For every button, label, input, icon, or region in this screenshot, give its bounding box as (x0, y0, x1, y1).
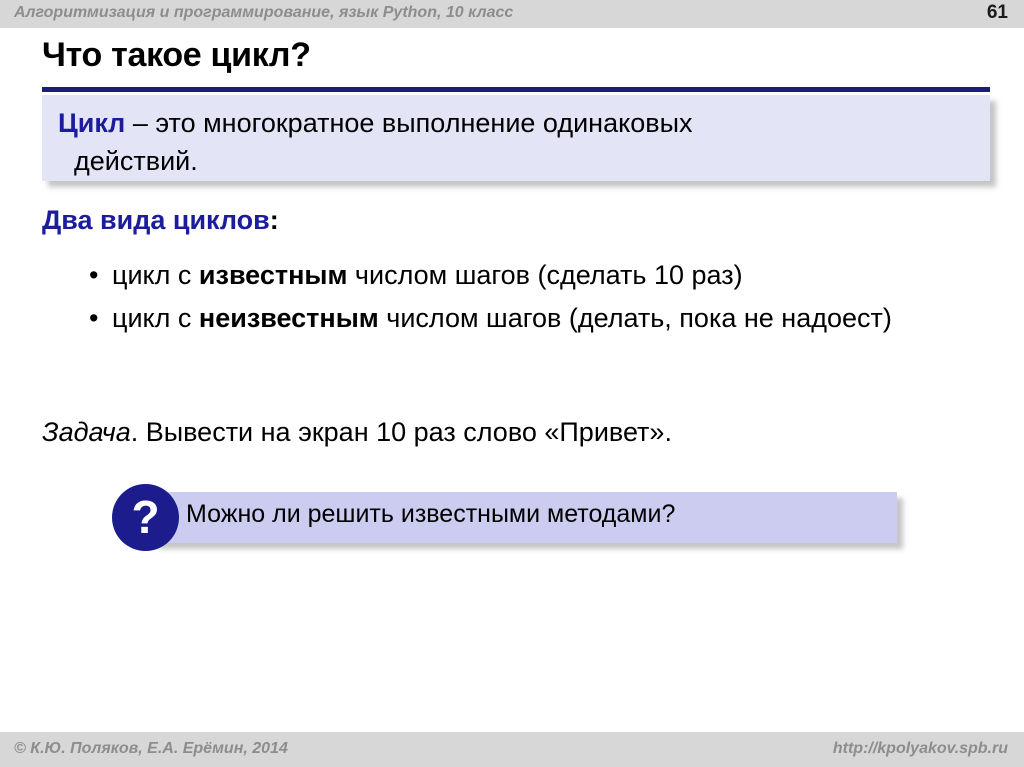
definition-line1-rest: – это многократное выполнение одинаковых (125, 108, 692, 138)
question-callout: Можно ли решить известными методами? (153, 492, 897, 543)
title-underline-rule (42, 87, 990, 92)
definition-line2: действий. (58, 142, 974, 180)
question-text: Можно ли решить известными методами? (186, 500, 675, 529)
footer-copyright: © К.Ю. Поляков, Е.А. Ерёмин, 2014 (14, 740, 288, 758)
kinds-heading-label: Два вида циклов (42, 205, 270, 235)
header-course-title: Алгоритмизация и программирование, язык … (14, 4, 513, 22)
list-item-part2: числом шагов (сделать 10 раз) (347, 260, 742, 290)
footer-url[interactable]: http://kpolyakov.spb.ru (833, 740, 1008, 758)
loop-kinds-list: •цикл с известным числом шагов (сделать … (42, 255, 992, 341)
task-text: . Вывести на экран 10 раз слово «Привет»… (131, 417, 672, 447)
definition-text: Цикл – это многократное выполнение одина… (58, 104, 974, 180)
page-number: 61 (987, 2, 1008, 24)
list-item-part1: цикл с (112, 260, 199, 290)
task-statement: Задача. Вывести на экран 10 раз слово «П… (42, 417, 672, 448)
kinds-heading: Два вида циклов: (42, 205, 279, 236)
definition-callout: Цикл – это многократное выполнение одина… (42, 95, 990, 181)
list-item-part2: числом шагов (делать, пока не надоест) (379, 303, 892, 333)
bullet-dot-icon: • (89, 298, 98, 339)
task-label: Задача (42, 417, 131, 447)
header-bar: Алгоритмизация и программирование, язык … (0, 0, 1024, 28)
list-item: •цикл с неизвестным числом шагов (делать… (42, 298, 992, 339)
footer-bar: © К.Ю. Поляков, Е.А. Ерёмин, 2014 http:/… (0, 732, 1024, 767)
bullet-dot-icon: • (89, 255, 98, 296)
list-item-part1: цикл с (112, 303, 199, 333)
question-mark-icon: ? (112, 484, 179, 551)
list-item-emphasis: известным (199, 260, 348, 290)
list-item: •цикл с известным числом шагов (сделать … (42, 255, 992, 296)
definition-term: Цикл (58, 108, 125, 138)
list-item-emphasis: неизвестным (199, 303, 379, 333)
page-title: Что такое цикл? (42, 36, 311, 75)
kinds-heading-colon: : (270, 205, 279, 235)
